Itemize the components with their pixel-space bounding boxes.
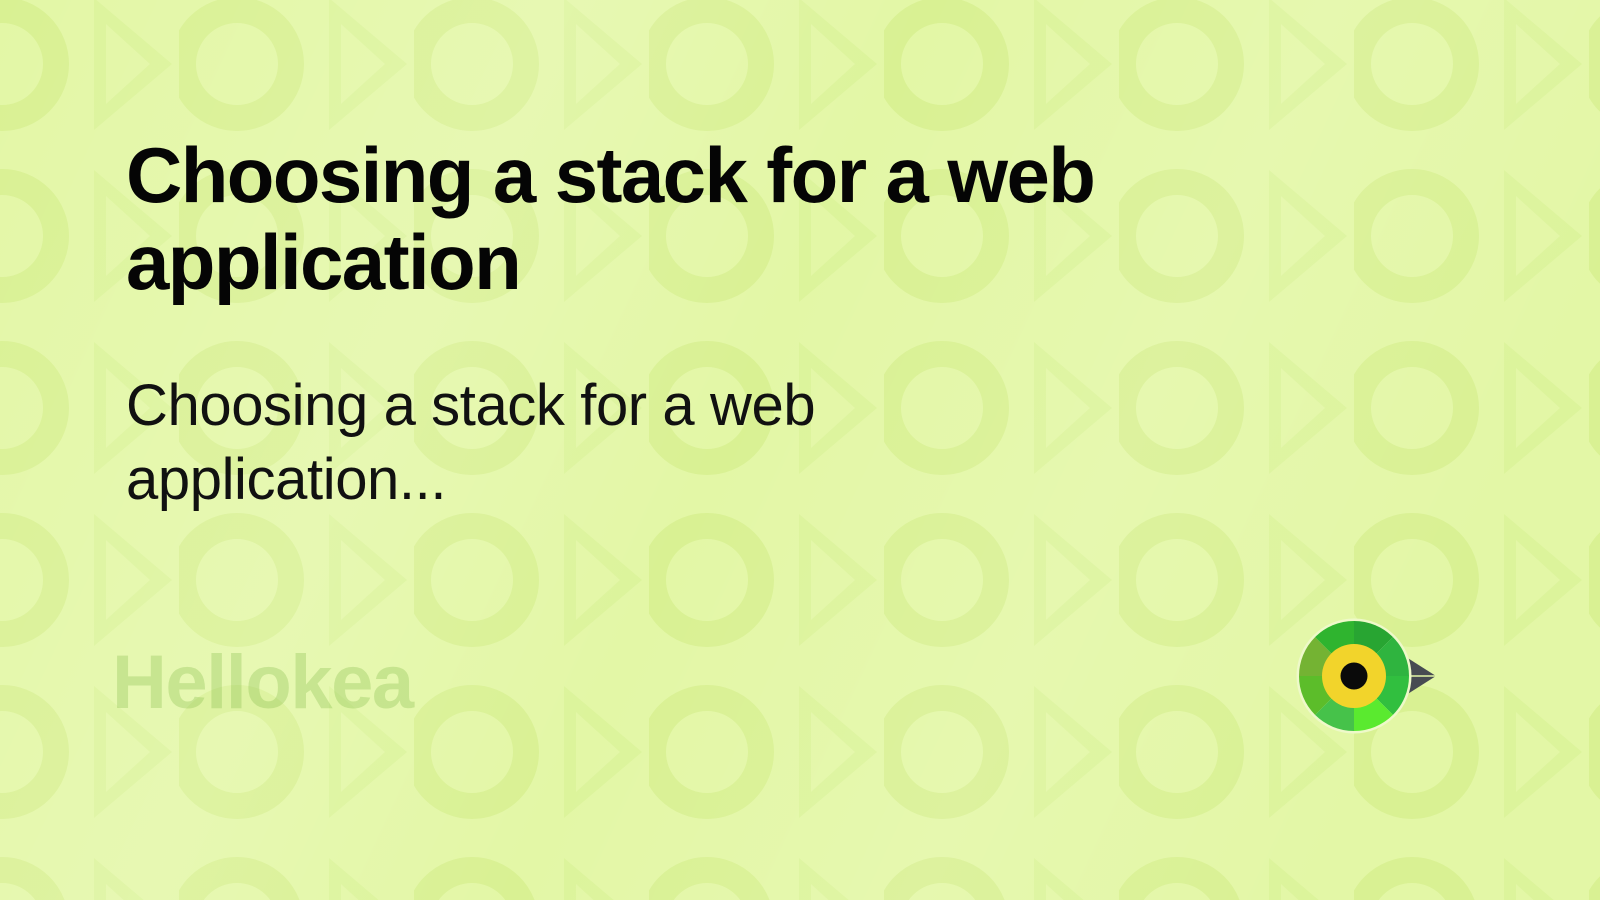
- page-title: Choosing a stack for a web application: [126, 132, 1336, 307]
- hellokea-eye-logo: [1272, 606, 1448, 746]
- page-subtitle: Choosing a stack for a web application..…: [126, 307, 1046, 517]
- social-card: Choosing a stack for a web application C…: [0, 0, 1600, 900]
- logo-pupil: [1341, 663, 1368, 690]
- brand-watermark: Hellokea: [112, 645, 413, 721]
- card-content: Choosing a stack for a web application C…: [126, 132, 1366, 517]
